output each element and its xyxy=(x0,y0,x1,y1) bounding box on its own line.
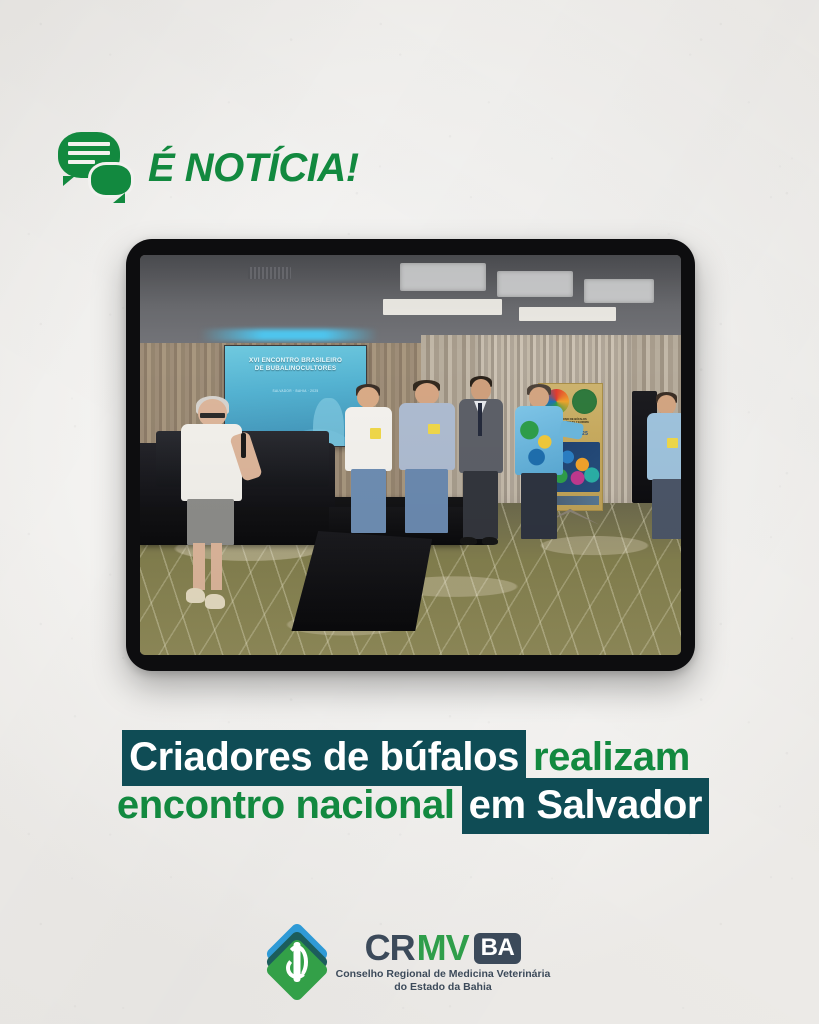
logo-wordmark: CRMV BA xyxy=(365,930,522,966)
photo-screen: XVI ENCONTRO BRASILEIRO DE BUBALINOCULTO… xyxy=(140,255,681,655)
microphone-icon xyxy=(241,433,246,458)
logo-tagline-line1: Conselho Regional de Medicina Veterinári… xyxy=(336,968,551,981)
person-speaker xyxy=(175,399,251,611)
shoe xyxy=(482,537,499,545)
ceiling-panel xyxy=(584,279,654,303)
logo-text-block: CRMV BA Conselho Regional de Medicina Ve… xyxy=(336,930,551,994)
person-4 xyxy=(513,387,564,547)
projection-title-line1: XVI ENCONTRO BRASILEIRO xyxy=(230,357,360,365)
projection-title: XVI ENCONTRO BRASILEIRO DE BUBALINOCULTO… xyxy=(230,357,360,372)
printed-shirt xyxy=(515,406,562,475)
notice-header: É NOTÍCIA! xyxy=(58,132,359,204)
trousers xyxy=(521,473,557,539)
headline-line-1: Criadores de búfalosrealizam xyxy=(0,737,819,777)
jeans xyxy=(405,469,448,533)
logo-mv: MV xyxy=(417,930,469,966)
logo-ba-badge: BA xyxy=(474,933,522,964)
shoe xyxy=(186,588,206,603)
person-3-suit xyxy=(456,379,505,547)
head xyxy=(471,379,490,401)
asclepius-snake-lower-icon xyxy=(286,957,308,979)
speech-bubbles-icon xyxy=(58,132,134,204)
leg xyxy=(193,543,204,590)
shoe xyxy=(460,537,477,545)
tablet-frame: XVI ENCONTRO BRASILEIRO DE BUBALINOCULTO… xyxy=(126,239,695,671)
ceiling-blue-glow xyxy=(200,329,379,341)
person-2 xyxy=(397,383,457,539)
suit-trousers xyxy=(463,471,498,538)
person-5 xyxy=(646,395,681,547)
speech-bubble-small-icon xyxy=(88,162,134,198)
necktie xyxy=(478,403,482,437)
ceiling-light xyxy=(383,299,502,315)
logo-tagline: Conselho Regional de Medicina Veterinári… xyxy=(336,968,551,994)
headline: Criadores de búfalosrealizam encontro na… xyxy=(0,737,819,825)
headline-segment-dark: em Salvador xyxy=(462,778,710,834)
name-badge xyxy=(428,424,440,435)
poster-canvas: É NOTÍCIA! XVI ENCONTRO BRASILEIRO xyxy=(0,0,819,1024)
notice-label: É NOTÍCIA! xyxy=(148,146,359,191)
crmv-ba-logo: CRMV BA Conselho Regional de Medicina Ve… xyxy=(0,930,819,994)
head xyxy=(657,395,676,415)
logo-cr: CR xyxy=(365,930,415,966)
torso xyxy=(345,407,391,471)
projection-subtitle: SALVADOR · BAHIA · 2025 xyxy=(230,389,360,393)
crmv-asclepius-emblem-icon xyxy=(269,931,325,993)
head xyxy=(415,383,439,405)
ceiling-vent xyxy=(248,267,291,279)
speech-bubble-lines-icon xyxy=(68,142,110,164)
projection-title-line2: DE BUBALINOCULTORES xyxy=(230,365,360,373)
headline-line-2: encontro nacionalem Salvador xyxy=(0,785,819,825)
ceiling-panel xyxy=(400,263,487,291)
shorts xyxy=(187,499,234,546)
jeans xyxy=(652,479,681,540)
head xyxy=(357,387,379,408)
name-badge xyxy=(370,428,381,439)
person-1 xyxy=(343,387,394,539)
ceiling-panel xyxy=(497,271,573,297)
jeans xyxy=(351,469,386,533)
name-badge xyxy=(667,438,677,449)
banner-logo-right-icon xyxy=(572,389,597,414)
glasses-icon xyxy=(200,413,225,419)
ceiling-light xyxy=(519,307,616,321)
torso xyxy=(399,403,455,470)
leg xyxy=(211,543,222,590)
logo-tagline-line2: do Estado da Bahia xyxy=(336,981,551,994)
shoe xyxy=(205,594,225,609)
headline-segment-green: encontro nacional xyxy=(110,778,462,834)
head xyxy=(529,387,550,408)
